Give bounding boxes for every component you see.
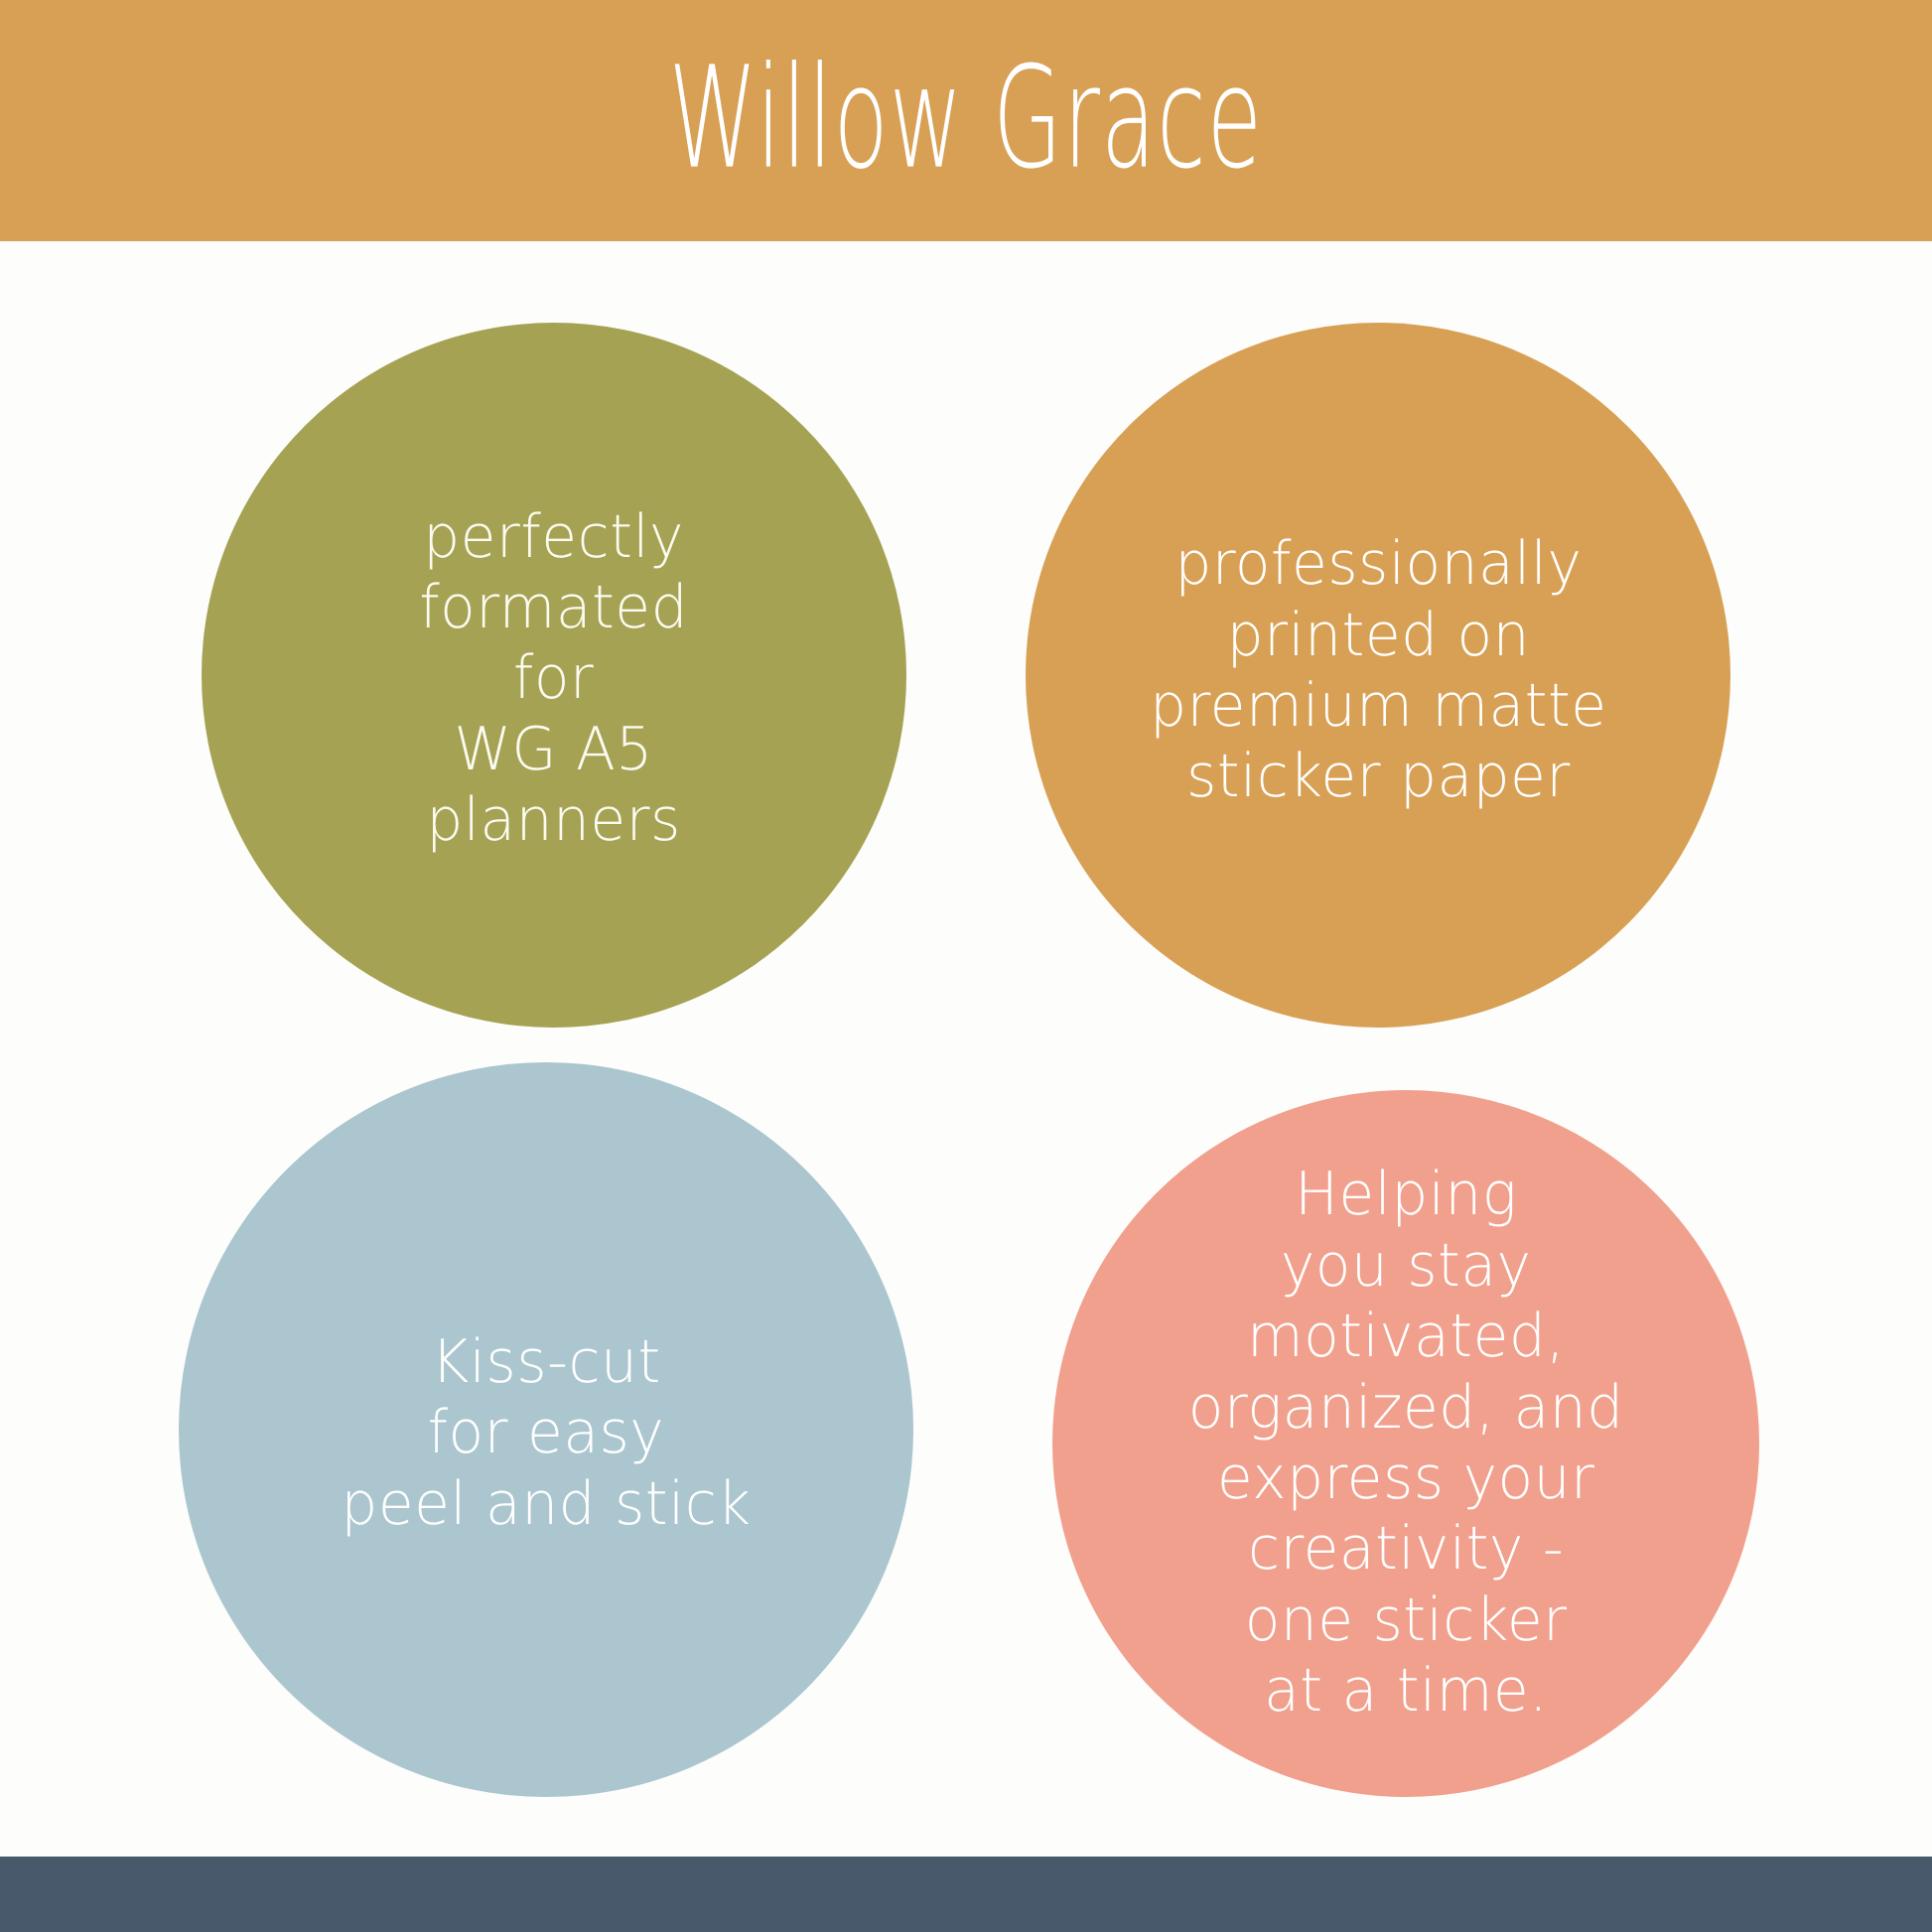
feature-circle-kiss-cut-text: Kiss-cut for easy peel and stick — [341, 1327, 751, 1540]
feature-circle-formatted-text: perfectly formated for WG A5 planners — [420, 502, 689, 857]
feature-circle-motivation: Helping you stay motivated, organized, a… — [1052, 1090, 1759, 1797]
header-band: Willow Grace — [0, 0, 1932, 241]
feature-circle-printed: professionally printed on premium matte … — [1026, 323, 1730, 1028]
promo-graphic: Willow Grace perfectly formated for WG A… — [0, 0, 1932, 1932]
feature-circle-formatted: perfectly formated for WG A5 planners — [202, 323, 906, 1028]
footer-band — [0, 1857, 1932, 1932]
feature-circle-kiss-cut: Kiss-cut for easy peel and stick — [179, 1062, 913, 1797]
feature-circle-motivation-text: Helping you stay motivated, organized, a… — [1188, 1160, 1624, 1726]
feature-circle-printed-text: professionally printed on premium matte … — [1150, 529, 1606, 813]
page-title: Willow Grace — [669, 49, 1264, 190]
